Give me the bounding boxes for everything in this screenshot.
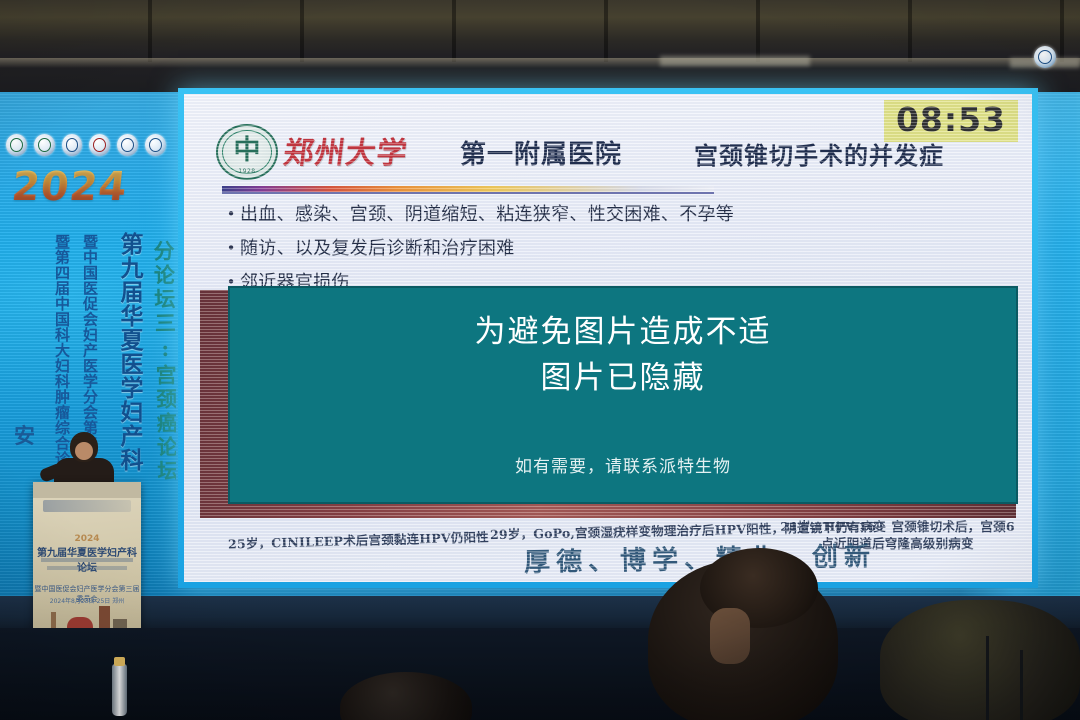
list-item: • 出血、感染、宫颈、阴道缩短、粘连狭窄、性交困难、不孕等	[222, 202, 962, 227]
overlay-line-1: 为避免图片造成不适	[230, 306, 1016, 351]
bullet-dot-icon: •	[222, 202, 240, 227]
banner-corner-character: 安	[14, 420, 35, 450]
university-seal-year: 1928	[216, 168, 278, 175]
ceiling-lip	[0, 58, 1080, 68]
banner-calligraphy: 分论坛三:宫颈癌论坛	[148, 240, 176, 484]
list-item: • 随访、以及复发后诊断和治疗困难	[222, 236, 962, 261]
overlay-line-2: 图片已隐藏	[230, 352, 1016, 397]
audience-hand	[710, 608, 750, 664]
water-bottle	[112, 664, 127, 716]
bullet-dot-icon: •	[222, 236, 240, 261]
presentation-timer: 08:53	[884, 100, 1018, 142]
org-logo-icon	[117, 134, 138, 156]
hospital-name: 第一附属医院	[460, 134, 622, 171]
microphone-stand	[986, 636, 989, 720]
university-name: 郑州大学	[281, 128, 410, 172]
organization-logo-row	[6, 132, 166, 158]
ceiling-glow	[660, 56, 810, 66]
org-logo-icon	[6, 134, 27, 156]
ceiling-panels	[0, 0, 1080, 96]
banner-main-title: 第九届华夏医学妇产科	[112, 232, 146, 472]
org-logo-icon	[89, 134, 110, 156]
bullet-text: 出血、感染、宫颈、阴道缩短、粘连狭窄、性交困难、不孕等	[240, 202, 734, 227]
audience-head	[880, 600, 1080, 720]
header-rule-underline	[222, 192, 714, 194]
photo-caption: 25岁，CINILEEP术后宫颈黏连HPV仍阳性	[228, 528, 489, 552]
image-hidden-overlay: 为避免图片造成不适 图片已隐藏 如有需要，请联系派特生物	[228, 286, 1018, 504]
organization-emblem-icon	[1034, 46, 1056, 68]
org-logo-icon	[62, 134, 83, 156]
university-seal-icon: 中 1928	[216, 124, 278, 180]
slide-header: 中 1928 郑州大学 第一附属医院 宫颈锥切手术的并发症 08:53	[184, 94, 1032, 180]
podium-year: 2024	[33, 534, 141, 544]
university-seal-glyph: 中	[216, 136, 278, 166]
podium-lectern: 2024 第九届华夏医学妇产科论坛 暨中国医促会妇产医学分会第三届委员会 202…	[33, 482, 141, 634]
conference-hall-photo: 2024 第九届华夏医学妇产科 暨中国医促会妇产医学分会第三届委员 暨第四届中国…	[0, 0, 1080, 720]
podium-graphic	[45, 602, 129, 628]
banner-year: 2024	[10, 164, 165, 210]
org-logo-icon	[34, 134, 55, 156]
bullet-text: 随访、以及复发后诊断和治疗困难	[240, 236, 515, 261]
ceiling-seams	[0, 0, 1080, 62]
overlay-contact-note: 如有需要，请联系派特生物	[230, 452, 1016, 477]
microphone-stand	[1020, 650, 1023, 720]
org-logo-icon	[145, 134, 166, 156]
